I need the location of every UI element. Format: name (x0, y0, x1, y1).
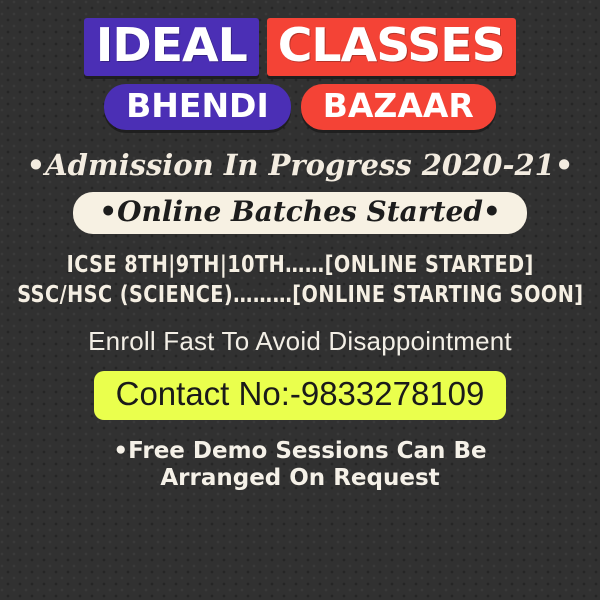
admission-headline: •Admission In Progress 2020-21• (27, 148, 574, 182)
logo-subtitle-row: BHENDI BAZAAR (104, 84, 496, 130)
course-line-ssc-hsc: SSC/HSC (SCIENCE)………[ONLINE STARTING SOO… (17, 282, 583, 308)
footer-line-2: Arranged On Request (113, 465, 486, 492)
footer-note: •Free Demo Sessions Can Be Arranged On R… (113, 438, 486, 492)
logo-box-ideal: IDEAL (84, 18, 259, 76)
contact-number: Contact No:-9833278109 (116, 375, 485, 413)
logo-box-classes: CLASSES (267, 18, 515, 76)
logo-word-ideal: IDEAL (96, 22, 247, 68)
logo-pill-bazaar: BAZAAR (301, 84, 496, 130)
logo-pill-bhendi: BHENDI (104, 84, 291, 130)
online-batches-banner: •Online Batches Started• (73, 192, 527, 234)
contact-banner[interactable]: Contact No:-9833278109 (94, 371, 507, 420)
online-batches-text: •Online Batches Started• (99, 195, 501, 228)
poster-canvas: IDEAL CLASSES BHENDI BAZAAR •Admission I… (0, 0, 600, 600)
logo-word-bhendi: BHENDI (126, 89, 269, 122)
logo-word-classes: CLASSES (278, 22, 505, 68)
enroll-note: Enroll Fast To Avoid Disappointment (88, 326, 512, 357)
course-line-icse: ICSE 8TH|9TH|10TH……[ONLINE STARTED] (66, 252, 533, 278)
footer-line-1: •Free Demo Sessions Can Be (113, 438, 486, 465)
logo-row: IDEAL CLASSES (84, 18, 515, 76)
logo-word-bazaar: BAZAAR (323, 89, 474, 122)
